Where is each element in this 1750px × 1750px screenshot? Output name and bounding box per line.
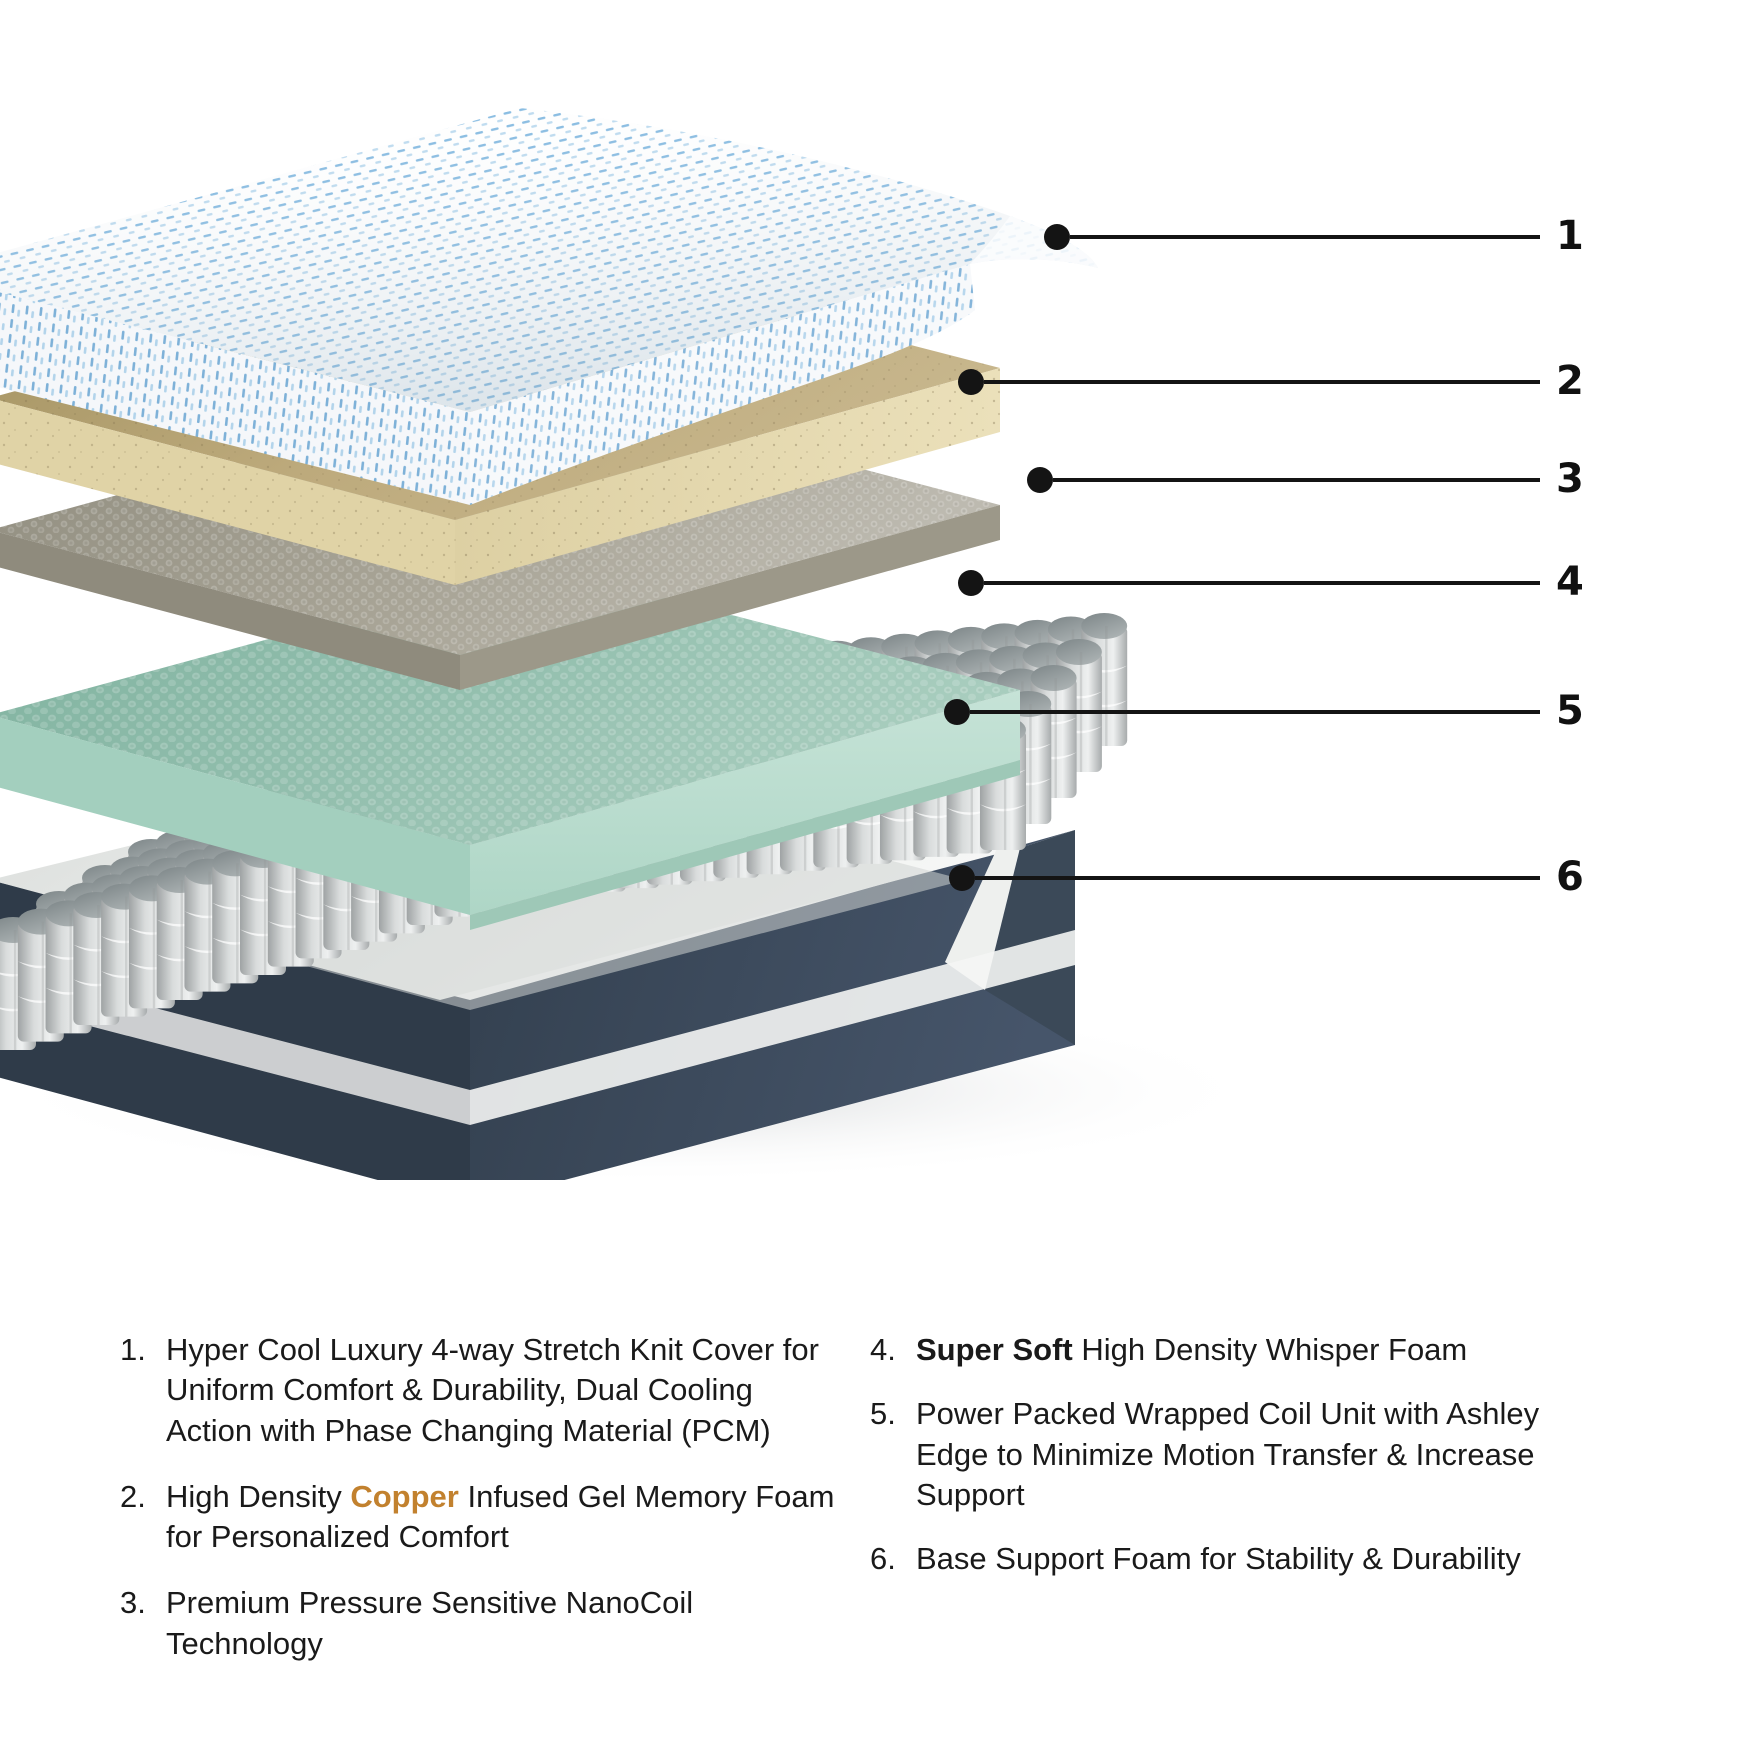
callout-dot-nanocoil (1027, 467, 1053, 493)
callout-dot-copper-gel-memory-foam (958, 369, 984, 395)
legend-item-index: 1. (120, 1330, 166, 1451)
callout-line-base-support-foam (975, 876, 1540, 880)
exploded-mattress-illustration (0, 0, 1750, 1180)
legend-item: 2.High Density Copper Infused Gel Memory… (120, 1477, 840, 1558)
callout-line-wrapped-coil-unit (970, 710, 1540, 714)
legend-item-index: 3. (120, 1583, 166, 1664)
legend-item-text: Power Packed Wrapped Coil Unit with Ashl… (916, 1394, 1590, 1515)
legend-column-left: 1.Hyper Cool Luxury 4-way Stretch Knit C… (120, 1330, 840, 1690)
callout-number-2: 2 (1556, 361, 1584, 401)
mattress-layer-diagram: 123456 1.Hyper Cool Luxury 4-way Stretch… (0, 0, 1750, 1750)
callout-dot-wrapped-coil-unit (944, 699, 970, 725)
legend: 1.Hyper Cool Luxury 4-way Stretch Knit C… (120, 1330, 1640, 1690)
callout-dot-base-support-foam (949, 865, 975, 891)
callout-number-6: 6 (1556, 857, 1584, 897)
legend-item-index: 5. (870, 1394, 916, 1515)
callout-line-whisper-foam (984, 581, 1540, 585)
callout-dot-whisper-foam (958, 570, 984, 596)
legend-item-text: Super Soft High Density Whisper Foam (916, 1330, 1590, 1370)
legend-item-text: Premium Pressure Sensitive NanoCoil Tech… (166, 1583, 840, 1664)
callout-number-1: 1 (1556, 216, 1584, 256)
legend-item: 6.Base Support Foam for Stability & Dura… (870, 1539, 1590, 1579)
callout-line-copper-gel-memory-foam (984, 380, 1540, 384)
callout-line-nanocoil (1053, 478, 1540, 482)
callout-line-knit-cover (1070, 235, 1540, 239)
legend-item: 4.Super Soft High Density Whisper Foam (870, 1330, 1590, 1370)
legend-item-index: 2. (120, 1477, 166, 1558)
legend-item: 5.Power Packed Wrapped Coil Unit with As… (870, 1394, 1590, 1515)
legend-item-index: 4. (870, 1330, 916, 1370)
legend-column-right: 4.Super Soft High Density Whisper Foam5.… (870, 1330, 1590, 1690)
callout-number-5: 5 (1556, 691, 1584, 731)
legend-item-text: Hyper Cool Luxury 4-way Stretch Knit Cov… (166, 1330, 840, 1451)
copper-highlight: Copper (350, 1479, 459, 1514)
legend-item-text: Base Support Foam for Stability & Durabi… (916, 1539, 1590, 1579)
legend-item: 3.Premium Pressure Sensitive NanoCoil Te… (120, 1583, 840, 1664)
callout-dot-knit-cover (1044, 224, 1070, 250)
legend-item-index: 6. (870, 1539, 916, 1579)
callout-number-4: 4 (1556, 562, 1584, 602)
callout-number-3: 3 (1556, 459, 1584, 499)
legend-item-text: High Density Copper Infused Gel Memory F… (166, 1477, 840, 1558)
legend-item: 1.Hyper Cool Luxury 4-way Stretch Knit C… (120, 1330, 840, 1451)
